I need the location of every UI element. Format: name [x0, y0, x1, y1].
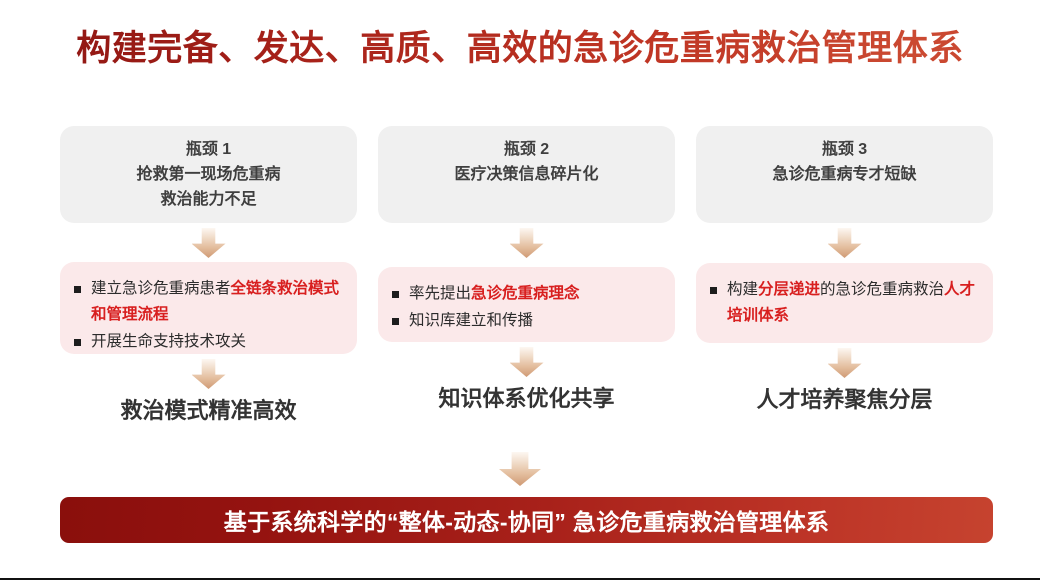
action-text-plain: 构建	[727, 281, 758, 298]
outcome-label-1: 救治模式精准高效	[60, 395, 357, 427]
square-bullet-icon	[74, 339, 81, 346]
bottleneck-line1-1: 抢救第一现场危重病	[136, 162, 280, 187]
final-arrow-container	[0, 452, 1040, 486]
bottleneck-heading-2: 瓶颈 2	[504, 138, 549, 162]
down-arrow-icon	[192, 359, 226, 389]
down-arrow-icon	[192, 228, 226, 258]
bottleneck-line1-2: 医疗决策信息碎片化	[454, 162, 598, 187]
bottleneck-line2-1: 救治能力不足	[160, 187, 256, 212]
action-text-plain: 建立急诊危重病患者	[91, 280, 231, 297]
list-item: 构建分层递进的急诊危重病救治人才培训体系	[710, 277, 977, 329]
square-bullet-icon	[392, 291, 399, 298]
outcome-label-2: 知识体系优化共享	[378, 383, 675, 415]
square-bullet-icon	[74, 286, 81, 293]
bottleneck-card-2: 瓶颈 2 医疗决策信息碎片化	[378, 126, 675, 223]
action-text-highlight: 急诊危重病理念	[471, 285, 580, 302]
action-text-plain-2: 的急诊危重病救治	[820, 281, 944, 298]
down-arrow-icon	[828, 228, 862, 258]
page-title: 构建完备、发达、高质、高效的急诊危重病救治管理体系	[0, 26, 1040, 72]
list-item: 知识库建立和传播	[392, 308, 659, 334]
bottleneck-line1-3: 急诊危重病专才短缺	[772, 162, 916, 187]
bottleneck-heading-3: 瓶颈 3	[822, 138, 867, 162]
action-text-1-1: 建立急诊危重病患者全链条救治模式和管理流程	[91, 276, 341, 328]
action-text-highlight: 分层递进	[758, 281, 820, 298]
action-text-2-1: 率先提出急诊危重病理念	[409, 281, 659, 307]
list-item: 率先提出急诊危重病理念	[392, 281, 659, 307]
action-card-2: 率先提出急诊危重病理念 知识库建立和传播	[378, 267, 675, 342]
action-text-3-1: 构建分层递进的急诊危重病救治人才培训体系	[727, 277, 977, 329]
list-item: 建立急诊危重病患者全链条救治模式和管理流程	[74, 276, 341, 328]
column-1: 瓶颈 1 抢救第一现场危重病 救治能力不足 建立急诊危重病患者全链条救治模式和管…	[60, 126, 357, 427]
slide-canvas: 构建完备、发达、高质、高效的急诊危重病救治管理体系 瓶颈 1 抢救第一现场危重病…	[0, 0, 1040, 582]
action-text-1-2: 开展生命支持技术攻关	[91, 329, 341, 355]
action-text-2-2: 知识库建立和传播	[409, 308, 659, 334]
outcome-label-3: 人才培养聚焦分层	[696, 384, 993, 416]
bottleneck-card-1: 瓶颈 1 抢救第一现场危重病 救治能力不足	[60, 126, 357, 223]
square-bullet-icon	[710, 287, 717, 294]
down-arrow-icon	[510, 228, 544, 258]
down-arrow-icon	[828, 348, 862, 378]
action-card-1: 建立急诊危重病患者全链条救治模式和管理流程 开展生命支持技术攻关	[60, 262, 357, 354]
summary-banner: 基于系统科学的“整体-动态-协同” 急诊危重病救治管理体系	[60, 497, 993, 543]
action-text-plain: 率先提出	[409, 285, 471, 302]
bottom-divider	[0, 578, 1040, 580]
action-card-3: 构建分层递进的急诊危重病救治人才培训体系	[696, 263, 993, 343]
list-item: 开展生命支持技术攻关	[74, 329, 341, 355]
down-arrow-icon	[499, 452, 541, 486]
bottleneck-heading-1: 瓶颈 1	[186, 138, 231, 162]
square-bullet-icon	[392, 318, 399, 325]
down-arrow-icon	[510, 347, 544, 377]
column-2: 瓶颈 2 医疗决策信息碎片化 率先提出急诊危重病理念 知识库建立和传播 知识体系…	[378, 126, 675, 415]
column-3: 瓶颈 3 急诊危重病专才短缺 构建分层递进的急诊危重病救治人才培训体系 人才培养…	[696, 126, 993, 416]
bottleneck-card-3: 瓶颈 3 急诊危重病专才短缺	[696, 126, 993, 223]
